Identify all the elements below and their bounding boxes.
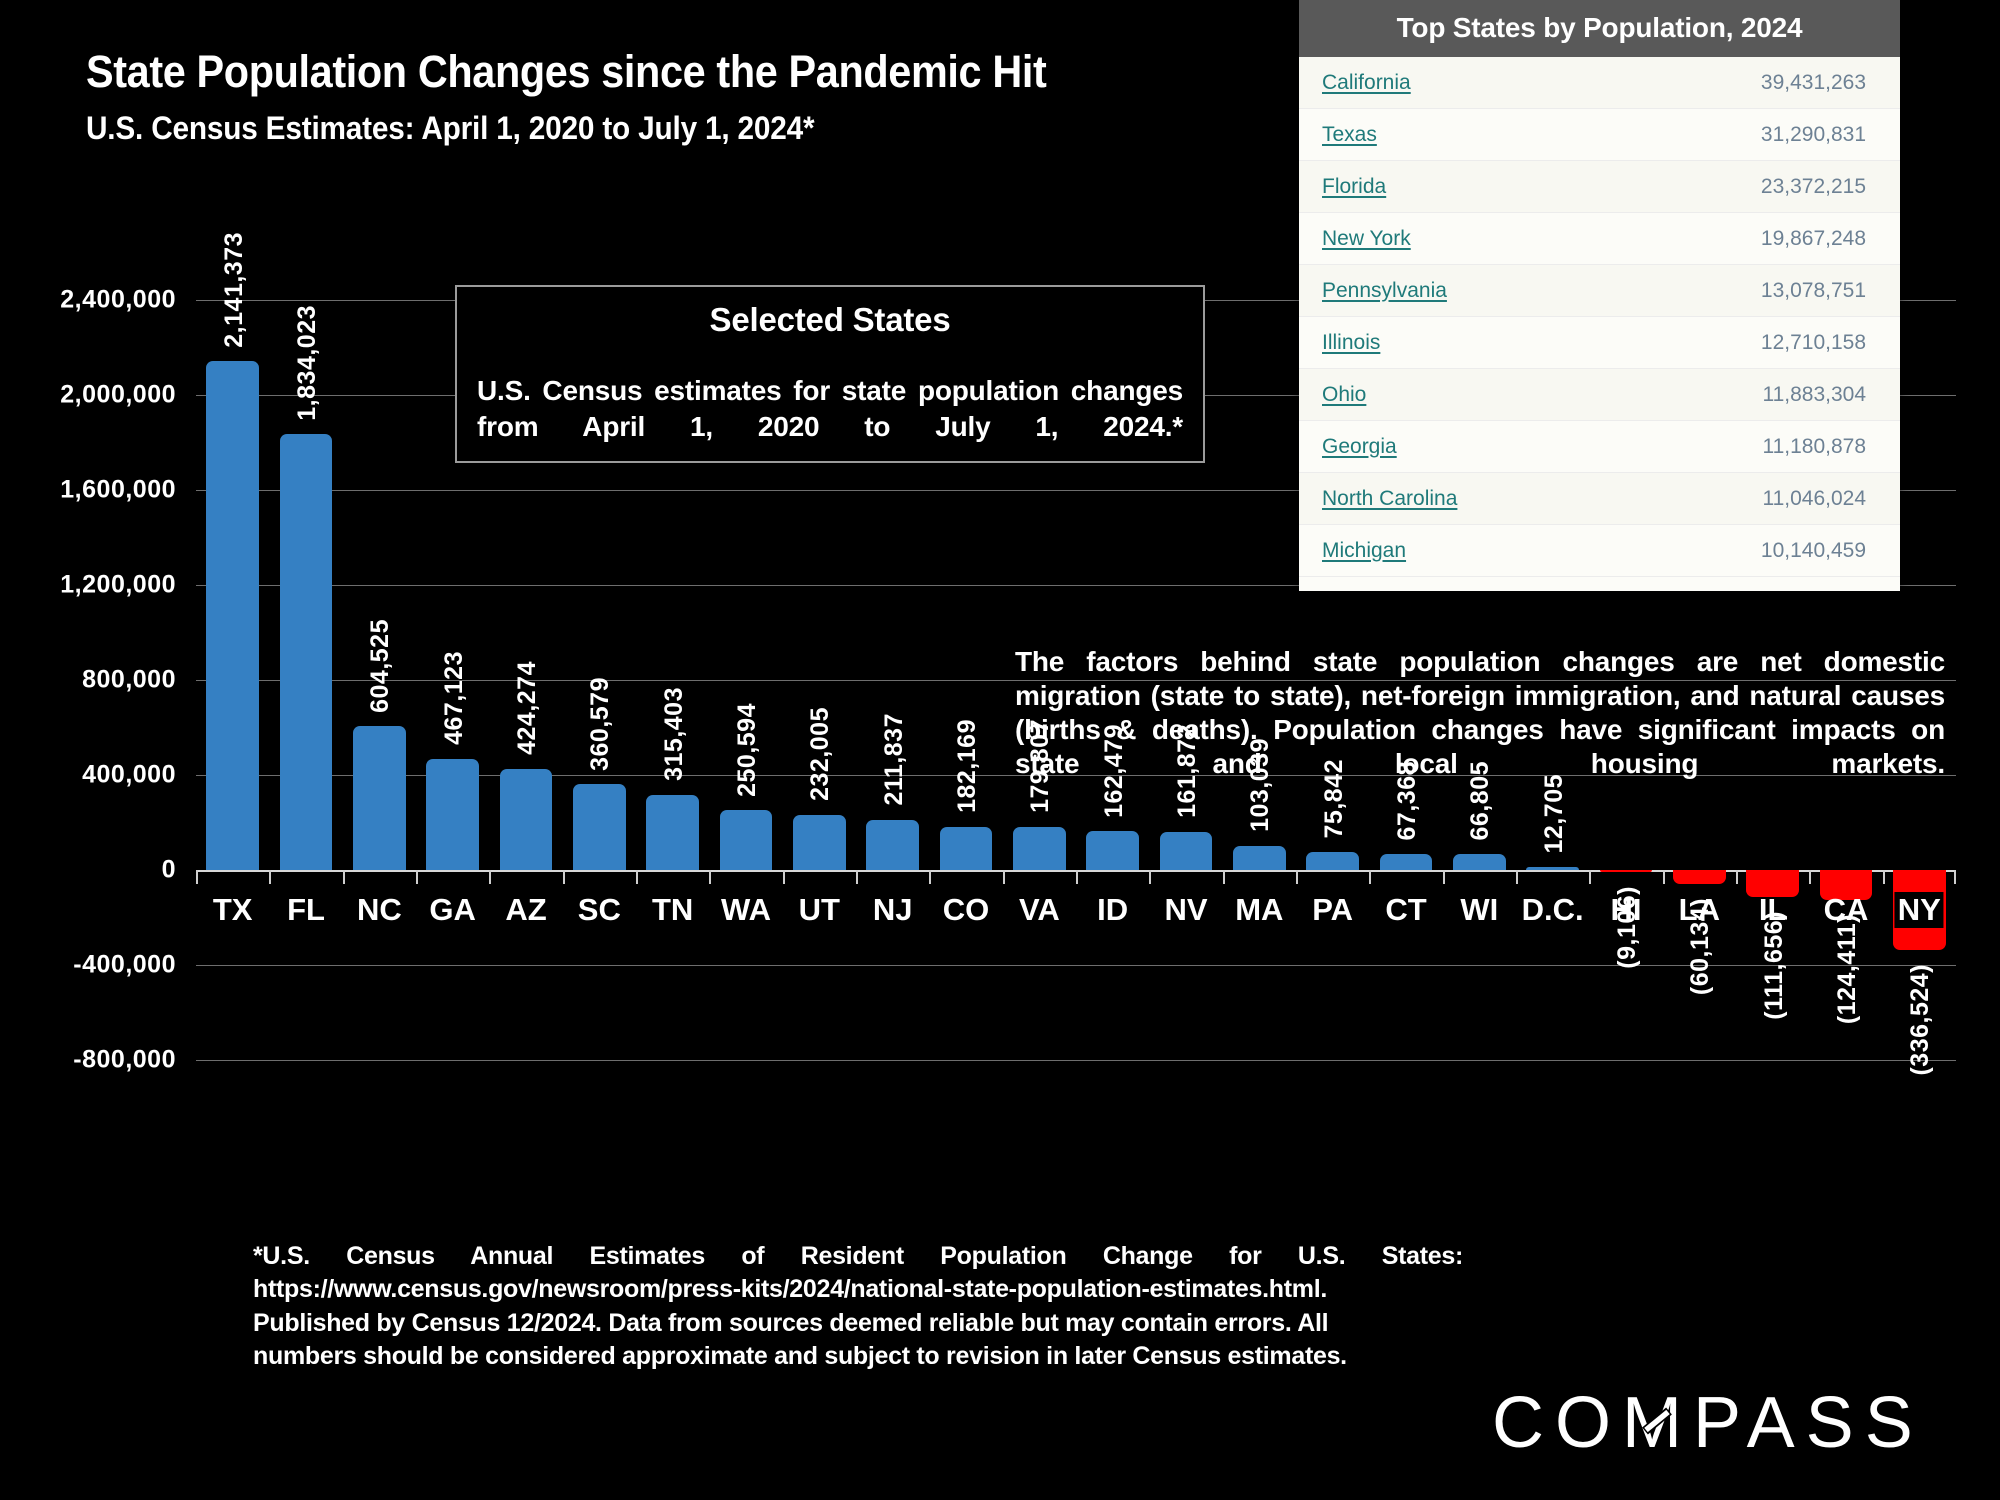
- x-axis-tick-mark: [856, 870, 858, 884]
- x-axis-tick-mark: [416, 870, 418, 884]
- x-axis-label-va: VA: [1019, 892, 1060, 928]
- x-axis-label-ca: CA: [1824, 892, 1869, 928]
- y-axis-tick-label: 1,600,000: [60, 476, 176, 505]
- table-state-link[interactable]: Texas: [1322, 123, 1377, 147]
- bar-value-label: 2,141,373: [220, 232, 249, 348]
- x-axis-tick-mark: [1443, 870, 1445, 884]
- x-axis-label-tn: TN: [652, 892, 693, 928]
- page-subtitle: U.S. Census Estimates: April 1, 2020 to …: [86, 110, 814, 147]
- table-row[interactable]: North Carolina11,046,024: [1299, 473, 1900, 525]
- table-state-link[interactable]: Michigan: [1322, 539, 1406, 563]
- x-axis-label-wi: WI: [1460, 892, 1498, 928]
- x-axis-tick-mark: [1003, 870, 1005, 884]
- table-population-value: 19,867,248: [1761, 227, 1866, 251]
- bar-value-label: 604,525: [366, 619, 395, 713]
- x-axis-label-nj: NJ: [873, 892, 913, 928]
- x-axis-tick-mark: [783, 870, 785, 884]
- table-state-link[interactable]: Illinois: [1322, 331, 1380, 355]
- y-axis-tick-label: 2,400,000: [60, 286, 176, 315]
- table-footer-spacer: [1299, 577, 1900, 591]
- x-axis-tick-mark: [269, 870, 271, 884]
- y-axis-tick-label: -800,000: [73, 1046, 176, 1075]
- x-axis-label-ny: NY: [1895, 892, 1944, 928]
- page-title: State Population Changes since the Pande…: [86, 46, 1046, 98]
- chart-canvas: State Population Changes since the Pande…: [0, 0, 2000, 1500]
- x-axis-label-la: LA: [1679, 892, 1720, 928]
- y-axis-tick-label: 0: [162, 856, 176, 885]
- x-axis-tick-mark: [563, 870, 565, 884]
- x-axis-label-dc: D.C.: [1522, 892, 1584, 928]
- bar-hi[interactable]: [1600, 870, 1653, 872]
- x-axis-label-wa: WA: [721, 892, 771, 928]
- x-axis-label-co: CO: [943, 892, 990, 928]
- bar-wa[interactable]: [720, 810, 773, 870]
- y-axis-tick-label: -400,000: [73, 951, 176, 980]
- x-axis-tick-mark: [343, 870, 345, 884]
- y-axis-tick-label: 1,200,000: [60, 571, 176, 600]
- table-state-link[interactable]: Ohio: [1322, 383, 1366, 407]
- x-axis-label-nv: NV: [1164, 892, 1207, 928]
- table-title: Top States by Population, 2024: [1299, 0, 1900, 57]
- footnote-line-2: https://www.census.gov/newsroom/press-ki…: [253, 1273, 1463, 1306]
- x-axis-tick-mark: [1076, 870, 1078, 884]
- bar-value-label: 232,005: [806, 707, 835, 801]
- commentary-text: The factors behind state population chan…: [1015, 645, 1945, 782]
- bar-value-label: (124,411): [1833, 914, 1862, 1024]
- footnote-line-3: Published by Census 12/2024. Data from s…: [253, 1307, 1463, 1340]
- y-axis-tick-label: 800,000: [82, 666, 176, 695]
- x-axis-tick-mark: [1149, 870, 1151, 884]
- bar-ut[interactable]: [793, 815, 846, 870]
- bar-value-label: 12,705: [1540, 774, 1569, 853]
- x-axis-label-pa: PA: [1312, 892, 1353, 928]
- x-axis-tick-mark: [1369, 870, 1371, 884]
- table-population-value: 12,710,158: [1761, 331, 1866, 355]
- footnote-line-1: *U.S. Census Annual Estimates of Residen…: [253, 1240, 1463, 1273]
- bar-pa[interactable]: [1306, 852, 1359, 870]
- x-axis-tick-mark: [1296, 870, 1298, 884]
- selected-states-callout: Selected States U.S. Census estimates fo…: [455, 285, 1205, 463]
- x-axis-label-ma: MA: [1235, 892, 1283, 928]
- callout-body: U.S. Census estimates for state populati…: [477, 373, 1183, 445]
- table-row[interactable]: Pennsylvania13,078,751: [1299, 265, 1900, 317]
- x-axis-label-ut: UT: [799, 892, 840, 928]
- bar-nj[interactable]: [866, 820, 919, 870]
- x-axis-label-nc: NC: [357, 892, 402, 928]
- gridline: [196, 1060, 1956, 1061]
- table-population-value: 13,078,751: [1761, 279, 1866, 303]
- top-states-table: Top States by Population, 2024 Californi…: [1299, 0, 1900, 591]
- table-row[interactable]: Texas31,290,831: [1299, 109, 1900, 161]
- table-row[interactable]: Ohio11,883,304: [1299, 369, 1900, 421]
- bar-value-label: 211,837: [880, 713, 909, 806]
- x-axis-label-ga: GA: [429, 892, 476, 928]
- x-axis-label-tx: TX: [213, 892, 253, 928]
- table-population-value: 39,431,263: [1761, 71, 1866, 95]
- bar-nv[interactable]: [1160, 832, 1213, 870]
- table-population-value: 10,140,459: [1761, 539, 1866, 563]
- y-axis-tick-label: 400,000: [82, 761, 176, 790]
- bar-co[interactable]: [940, 827, 993, 870]
- x-axis-label-az: AZ: [505, 892, 546, 928]
- bar-tn[interactable]: [646, 795, 699, 870]
- bar-value-label: 1,834,023: [293, 305, 322, 421]
- table-row[interactable]: Michigan10,140,459: [1299, 525, 1900, 577]
- footnote: *U.S. Census Annual Estimates of Residen…: [253, 1240, 1463, 1373]
- table-row[interactable]: California39,431,263: [1299, 57, 1900, 109]
- bar-value-label: 424,274: [513, 661, 542, 755]
- table-state-link[interactable]: Georgia: [1322, 435, 1397, 459]
- x-axis-tick-mark: [1223, 870, 1225, 884]
- x-axis-tick-mark: [1589, 870, 1591, 884]
- table-row[interactable]: Illinois12,710,158: [1299, 317, 1900, 369]
- table-state-link[interactable]: New York: [1322, 227, 1411, 251]
- x-axis-label-fl: FL: [287, 892, 325, 928]
- table-row[interactable]: Georgia11,180,878: [1299, 421, 1900, 473]
- bar-value-label: 182,169: [953, 719, 982, 813]
- table-state-link[interactable]: Florida: [1322, 175, 1386, 199]
- bar-sc[interactable]: [573, 784, 626, 870]
- x-axis-tick-mark: [196, 870, 198, 884]
- bar-va[interactable]: [1013, 827, 1066, 870]
- table-state-link[interactable]: North Carolina: [1322, 487, 1457, 511]
- bar-az[interactable]: [500, 769, 553, 870]
- table-population-value: 31,290,831: [1761, 123, 1866, 147]
- x-axis-tick-mark: [709, 870, 711, 884]
- y-axis: 2,400,0002,000,0001,600,0001,200,000800,…: [0, 300, 176, 1060]
- x-axis-label-sc: SC: [578, 892, 621, 928]
- x-axis-tick-mark: [1883, 870, 1885, 884]
- compass-logo: COMPASS: [1492, 1382, 1924, 1464]
- x-axis-tick-mark: [636, 870, 638, 884]
- bar-ga[interactable]: [426, 759, 479, 870]
- bar-value-label: 315,403: [660, 687, 689, 781]
- x-axis-tick-mark: [1809, 870, 1811, 884]
- bar-nc[interactable]: [353, 726, 406, 870]
- table-body: California39,431,263Texas31,290,831Flori…: [1299, 57, 1900, 577]
- table-population-value: 11,046,024: [1762, 487, 1866, 511]
- bar-value-label: (336,524): [1906, 964, 1935, 1076]
- compass-needle-icon: [1631, 1395, 1683, 1447]
- table-state-link[interactable]: California: [1322, 71, 1411, 95]
- callout-heading: Selected States: [477, 301, 1183, 339]
- table-row[interactable]: New York19,867,248: [1299, 213, 1900, 265]
- table-row[interactable]: Florida23,372,215: [1299, 161, 1900, 213]
- x-axis-label-hi: HI: [1611, 892, 1642, 928]
- bar-value-label: 467,123: [440, 651, 469, 745]
- bar-tx[interactable]: [206, 361, 259, 870]
- bar-fl[interactable]: [280, 434, 333, 870]
- table-state-link[interactable]: Pennsylvania: [1322, 279, 1447, 303]
- bar-ct[interactable]: [1380, 854, 1433, 870]
- x-axis-label-ct: CT: [1385, 892, 1426, 928]
- y-axis-tick-label: 2,000,000: [60, 381, 176, 410]
- table-population-value: 11,180,878: [1762, 435, 1866, 459]
- x-axis-tick-mark: [489, 870, 491, 884]
- bar-la[interactable]: [1673, 870, 1726, 884]
- bar-id[interactable]: [1086, 831, 1139, 870]
- x-axis-tick-mark: [929, 870, 931, 884]
- footnote-line-4: numbers should be considered approximate…: [253, 1340, 1463, 1373]
- bar-value-label: 360,579: [586, 677, 615, 771]
- x-axis-tick-mark: [1516, 870, 1518, 884]
- bar-dc[interactable]: [1526, 867, 1579, 870]
- x-axis-tick-mark: [1954, 870, 1956, 884]
- x-axis-label-il: IL: [1759, 892, 1787, 928]
- x-axis-tick-mark: [1736, 870, 1738, 884]
- x-axis-tick-mark: [1663, 870, 1665, 884]
- table-population-value: 23,372,215: [1761, 175, 1866, 199]
- table-population-value: 11,883,304: [1762, 383, 1866, 407]
- bar-ma[interactable]: [1233, 846, 1286, 870]
- bar-wi[interactable]: [1453, 854, 1506, 870]
- bar-value-label: 250,594: [733, 703, 762, 797]
- x-axis-label-id: ID: [1097, 892, 1128, 928]
- compass-logo-text: COMPASS: [1492, 1382, 1924, 1464]
